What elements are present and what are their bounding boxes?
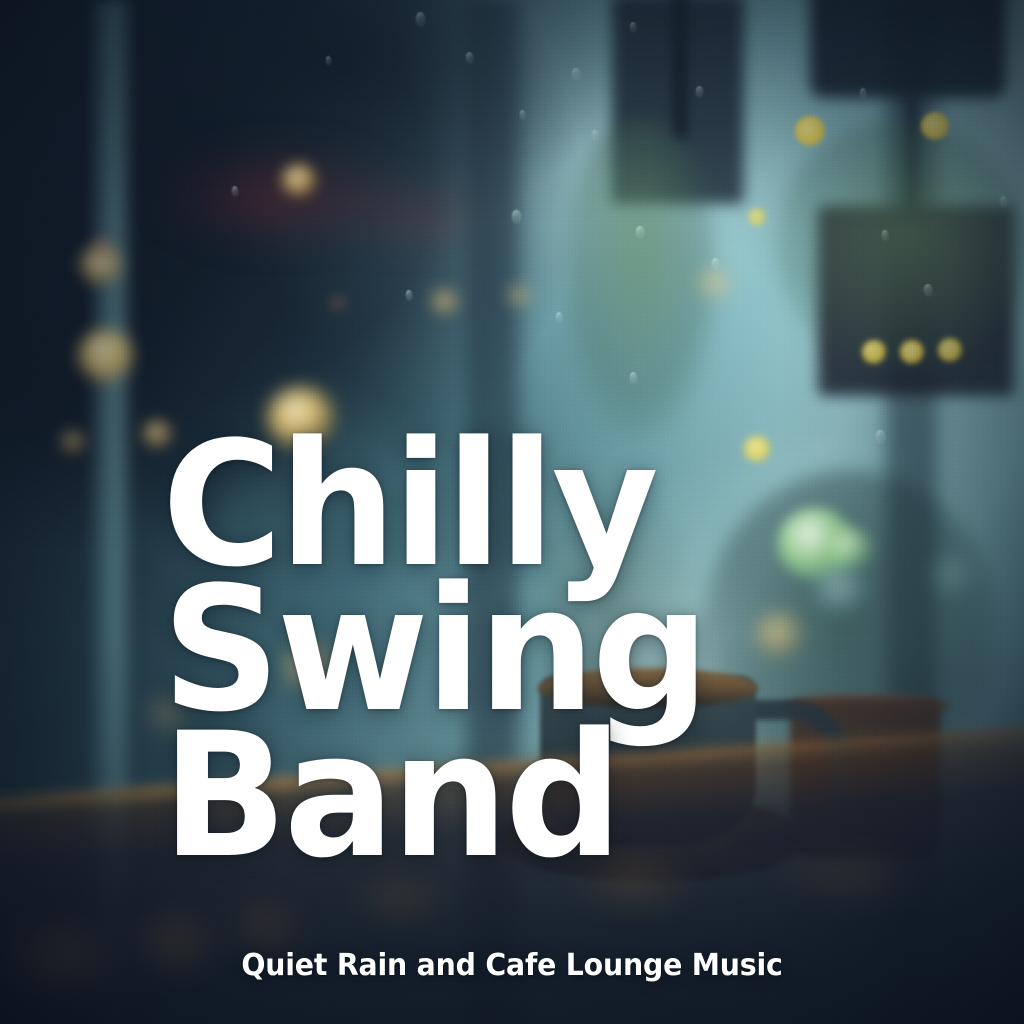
album-title-line-3: Band [162,723,983,868]
rain-drop [696,86,703,96]
rain-drop [882,230,888,239]
bokeh-light-1 [78,330,134,382]
rain-drop [1000,196,1007,206]
planter-rod-left [672,0,688,140]
rain-drop [630,22,636,31]
rain-drop [572,68,580,79]
album-title: Chilly Swing Band [162,432,1022,868]
bokeh-red-1 [92,236,114,256]
rain-drop [636,226,644,237]
bokeh-yellow-1 [795,116,825,146]
rain-drop [924,284,932,295]
rain-drop [520,110,525,118]
bokeh-yellow-4 [900,340,924,364]
rain-drop [512,210,521,222]
bokeh-yellow-5 [938,338,962,362]
foliage-center [560,120,720,440]
bokeh-light-10 [508,286,530,306]
rain-drop [592,130,598,139]
hanging-planter-top-right [810,0,1006,98]
foliage-top-right [770,120,1024,370]
rain-drop [630,372,637,382]
rain-drop [406,290,412,299]
album-cover: Chilly Swing Band Quiet Rain and Cafe Lo… [0,0,1024,1024]
rain-drop [712,258,719,268]
rain-drop [556,312,562,321]
bokeh-yellow-3 [862,340,886,364]
rain-drop [466,52,473,62]
bokeh-light-11 [700,270,730,298]
rain-drop [326,56,331,64]
bokeh-light-9 [432,290,458,314]
album-subtitle: Quiet Rain and Cafe Lounge Music [28,948,996,983]
rain-drop [416,12,425,25]
bokeh-yellow-2 [921,112,949,140]
rain-drop [232,186,238,195]
bokeh-light-7 [60,430,86,454]
bokeh-red-2 [330,296,346,312]
bokeh-yellow-7 [748,208,766,226]
bokeh-light-3 [282,164,316,196]
rain-drop [860,88,866,97]
